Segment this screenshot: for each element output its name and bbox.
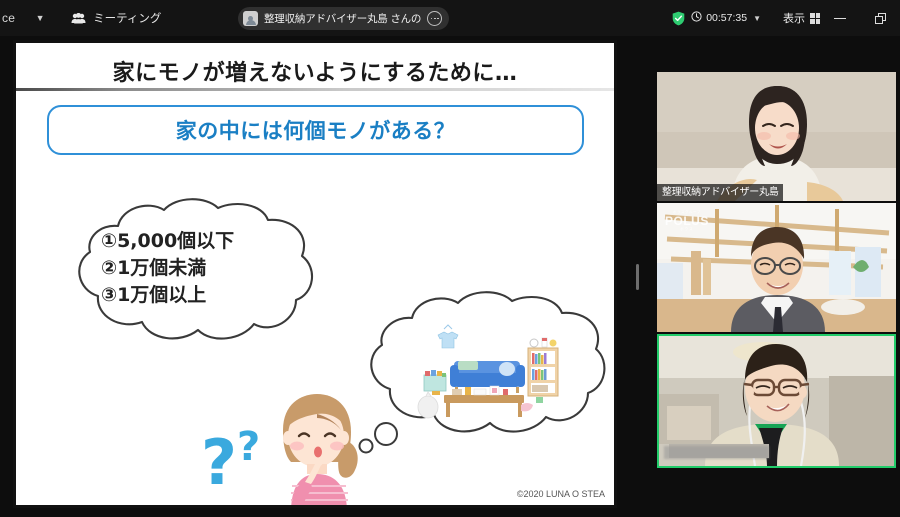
meeting-window: ce ▼ ミーティング 整理 (0, 0, 900, 517)
title-divider (16, 88, 614, 91)
panel-splitter[interactable] (624, 36, 650, 517)
svg-text:?: ? (237, 424, 260, 470)
titlebar-left-group: ce ▼ ミーティング (0, 5, 161, 31)
participant-video-frame (657, 72, 896, 201)
video-tile-active-speaker[interactable] (657, 334, 896, 468)
title-bar: ce ▼ ミーティング 整理 (0, 0, 900, 36)
presentation-slide[interactable]: 家にモノが増えないようにするために… 家の中には何個モノがある？ ①5,000個… (13, 40, 617, 508)
option-list: ①5,000個以下 ②1万個未満 ③1万個以上 (101, 228, 331, 309)
watermark-title: POLUS (665, 215, 709, 227)
list-item: ①5,000個以下 (101, 228, 331, 255)
drag-handle-icon[interactable] (636, 264, 639, 290)
presentation-owner-pill[interactable]: 整理収納アドバイザー丸島 さんの (238, 7, 449, 30)
meeting-tab-label: ミーティング (93, 10, 161, 26)
clock-icon (691, 11, 702, 25)
thinking-girl-illustration (261, 388, 371, 508)
meeting-tab[interactable]: ミーティング (71, 10, 161, 26)
video-tile[interactable]: ポラスグループ POLUS ポウス (657, 203, 896, 332)
participant-video-panel: 整理収納アドバイザー丸島 (650, 36, 900, 517)
minimize-button[interactable] (820, 0, 860, 36)
living-room-illustration (408, 323, 568, 428)
list-item: ③1万個以上 (101, 282, 331, 309)
app-name-label: ce (0, 11, 15, 25)
view-layout-button[interactable]: 表示 (783, 10, 820, 26)
view-button-label: 表示 (783, 10, 805, 26)
virtual-background-watermark: ポラスグループ POLUS ポウス (665, 210, 709, 232)
participant-name-label (664, 446, 769, 459)
view-layout-icon (810, 13, 820, 24)
restore-window-icon (875, 13, 886, 24)
people-icon (71, 13, 86, 24)
list-item: ②1万個未満 (101, 255, 331, 282)
meeting-timer-label: 00:57:35 (706, 12, 747, 24)
meeting-timer[interactable]: 00:57:35 ▼ (691, 11, 761, 25)
security-shield-icon[interactable] (667, 11, 689, 26)
question-box-text: 家の中には何個モノがある？ (176, 115, 456, 145)
thought-cloud-options: ①5,000個以下 ②1万個未満 ③1万個以上 (56, 198, 356, 358)
shared-screen-stage: 家にモノが増えないようにするために… 家の中には何個モノがある？ ①5,000個… (0, 36, 624, 517)
minimize-icon (834, 18, 846, 19)
video-tile[interactable]: 整理収納アドバイザー丸島 (657, 72, 896, 201)
thought-cloud-room (346, 288, 616, 463)
slide-copyright: ©2020 LUNA O STEA (517, 489, 605, 499)
presentation-owner-label: 整理収納アドバイザー丸島 さんの (264, 11, 421, 26)
participant-name-label: 整理収納アドバイザー丸島 (657, 184, 783, 201)
chevron-down-icon[interactable]: ▼ (753, 14, 761, 23)
titlebar-right-group: 00:57:35 ▼ 表示 (667, 0, 900, 36)
restore-button[interactable] (860, 0, 900, 36)
participant-avatar-icon (243, 11, 258, 26)
more-options-icon[interactable] (427, 11, 442, 26)
slide-title: 家にモノが増えないようにするために… (16, 55, 614, 87)
question-box: 家の中には何個モノがある？ (47, 105, 584, 155)
svg-text:?: ? (201, 426, 237, 499)
chevron-down-icon[interactable]: ▼ (27, 5, 53, 31)
